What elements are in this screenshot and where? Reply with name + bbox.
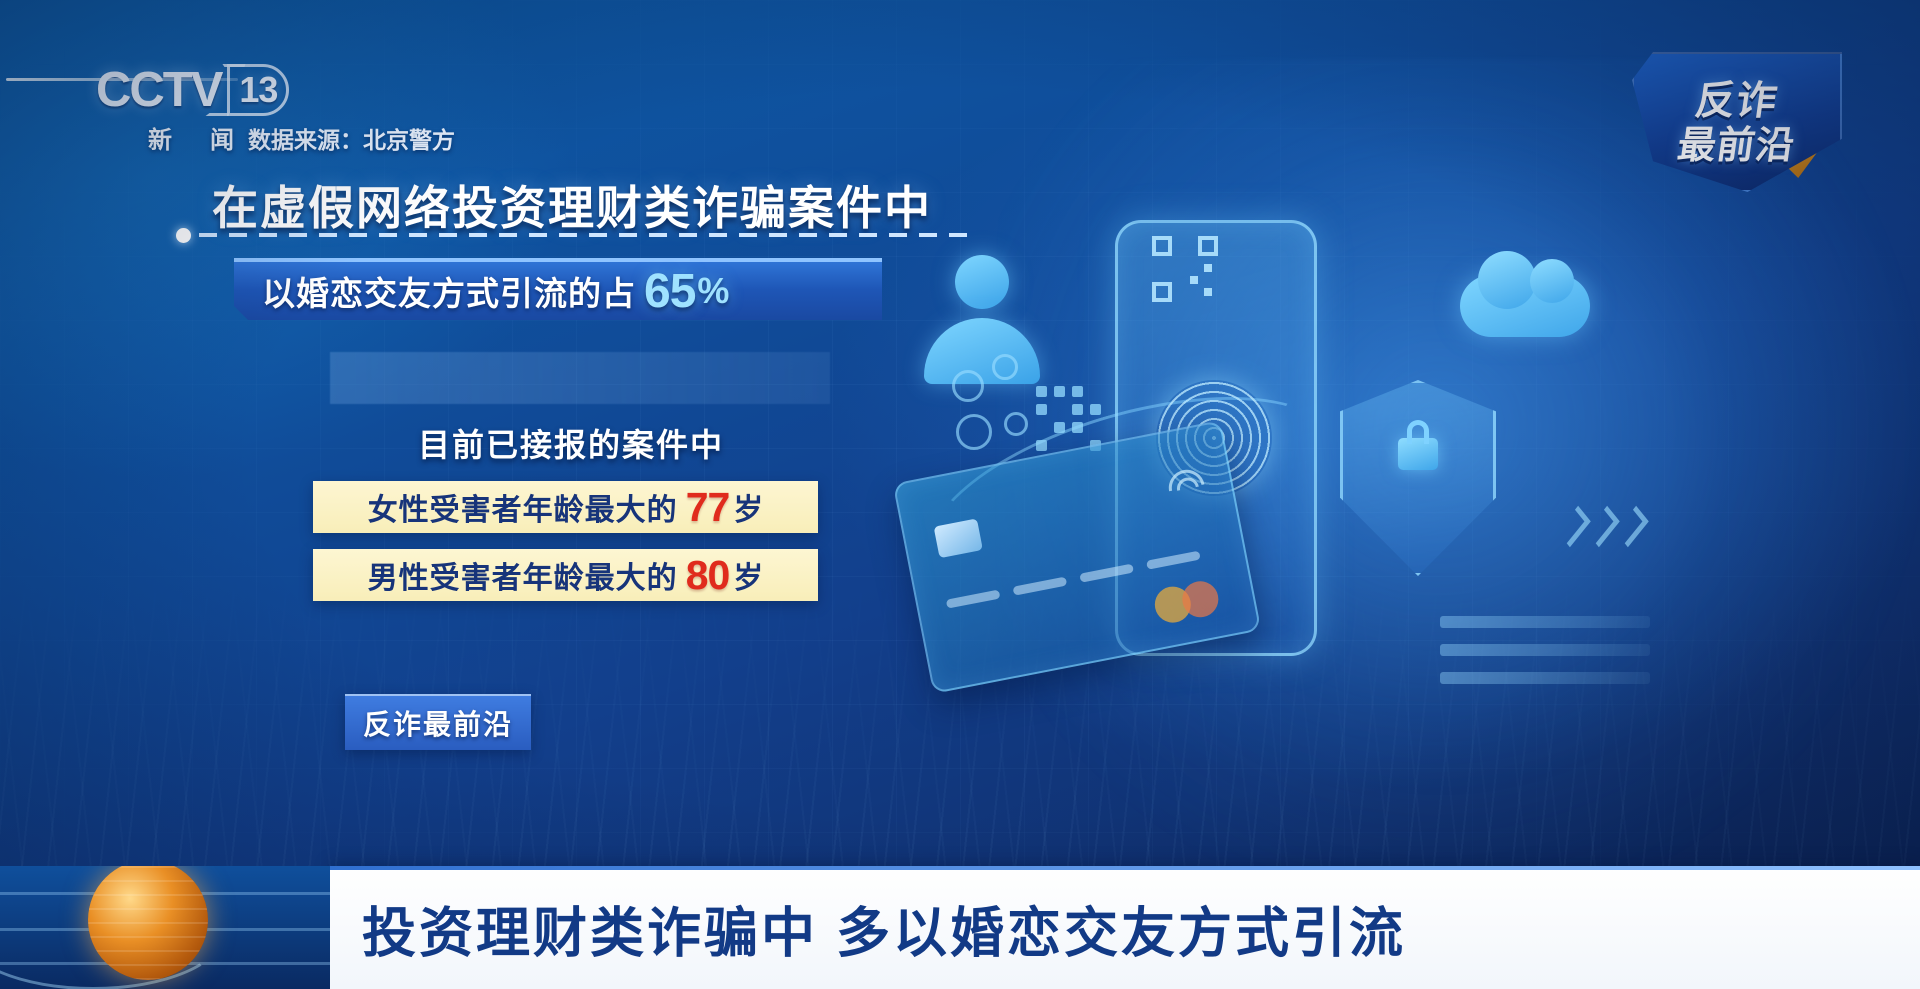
lower-third-bar: 投资理财类诈骗中 多以婚恋交友方式引流: [330, 866, 1920, 989]
background-vignette: [0, 0, 1920, 989]
lower-third-tag: 反诈最前沿: [345, 694, 531, 750]
lower-third-title: 投资理财类诈骗中 多以婚恋交友方式引流: [362, 888, 1406, 967]
broadcast-screen: CCTV 13 新 闻 数据来源：北京警方 反诈 最前沿 在虚假网络投资理财类诈…: [0, 0, 1920, 989]
lower-third-accent-line: [330, 866, 1920, 870]
globe-icon: [0, 866, 330, 989]
